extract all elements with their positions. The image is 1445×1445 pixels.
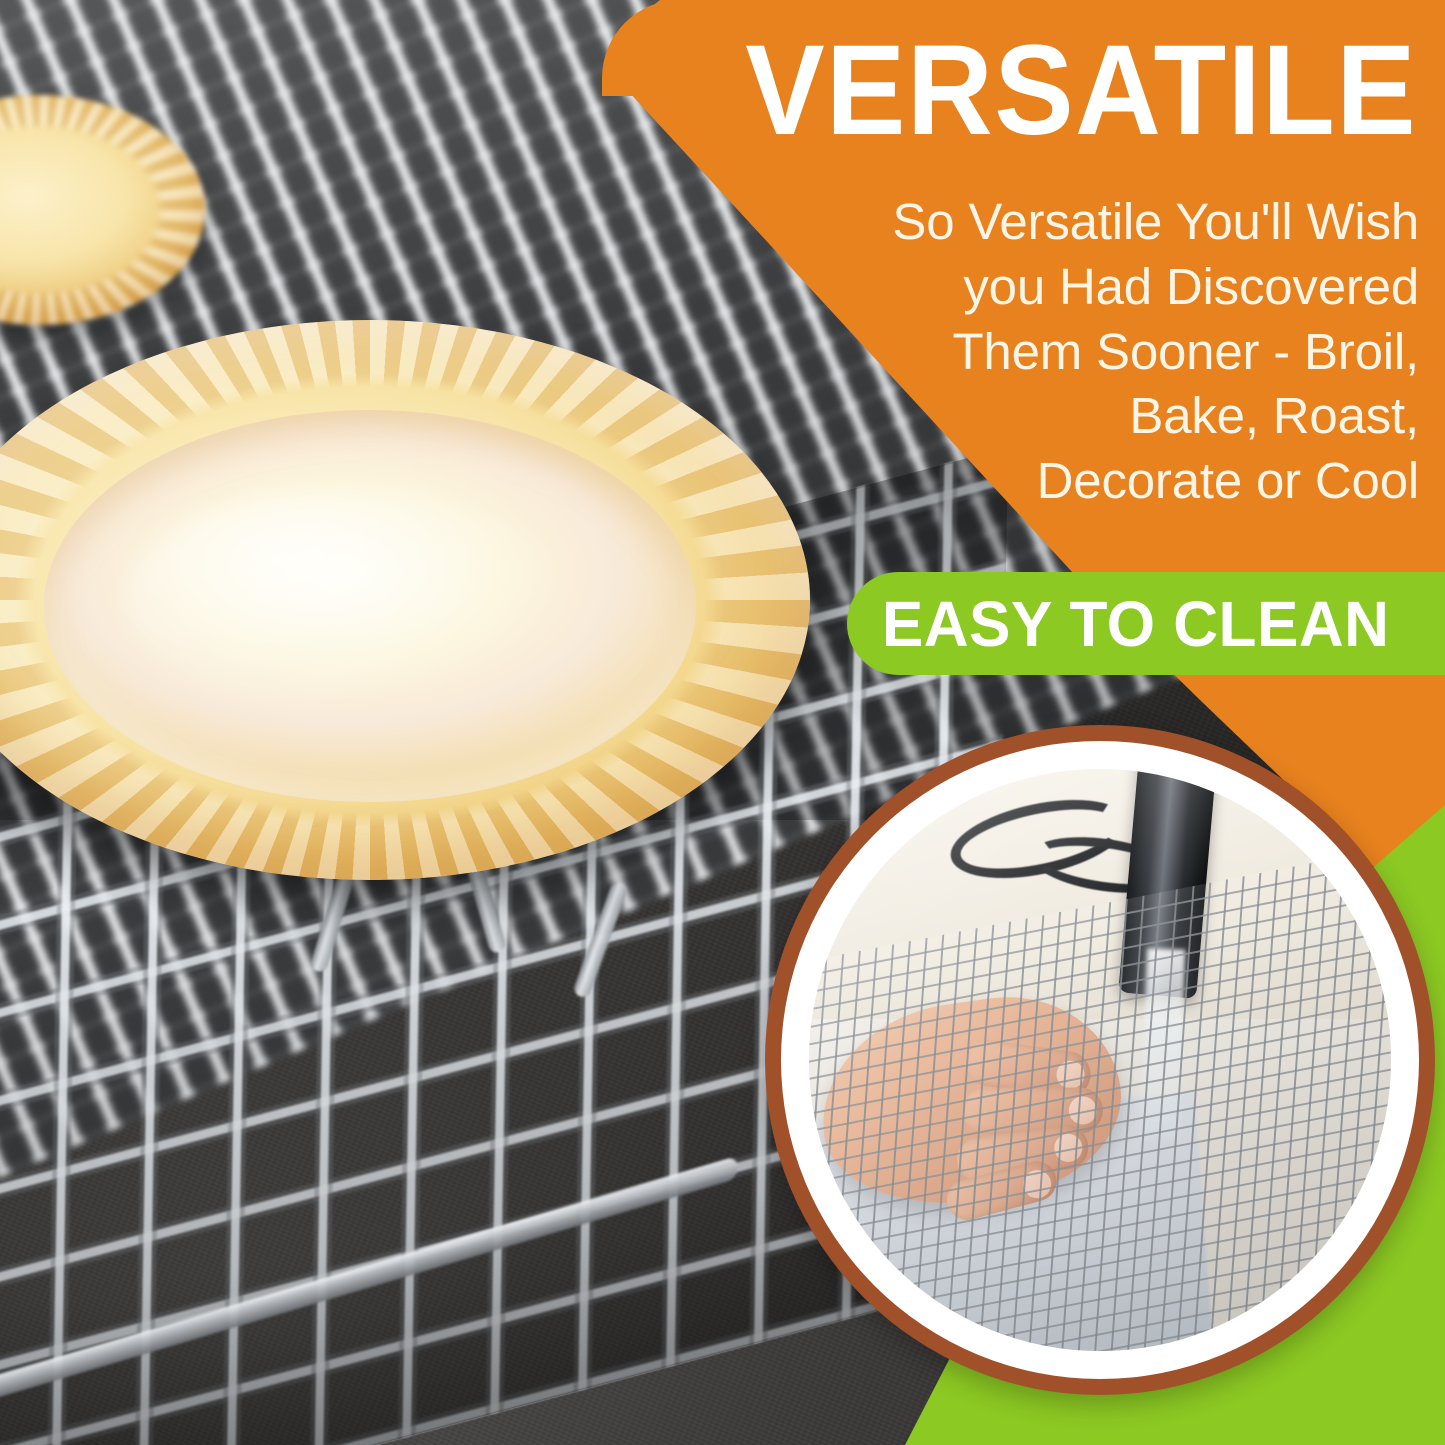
inset-photo-ring [765,725,1435,1395]
inset-product-photo [809,769,1391,1351]
page-title: VERSATILE [654,26,1417,157]
feature-description-line: Decorate or Cool [779,449,1419,514]
product-feature-graphic: VERSATILE So Versatile You'll Wish you H… [0,0,1445,1445]
status-badge-label: EASY TO CLEAN [882,587,1390,661]
inset-rack-highlight [809,769,1391,1351]
feature-description-line: Them Sooner - Broil, [779,320,1419,385]
feature-description: So Versatile You'll Wish you Had Discove… [779,190,1419,514]
status-badge: EASY TO CLEAN [847,572,1445,675]
feature-description-line: Bake, Roast, [779,384,1419,449]
inset-photo-white-border [781,741,1419,1379]
feature-description-line: you Had Discovered [779,255,1419,320]
feature-description-line: So Versatile You'll Wish [779,190,1419,255]
tart-filling-highlight [124,488,564,712]
